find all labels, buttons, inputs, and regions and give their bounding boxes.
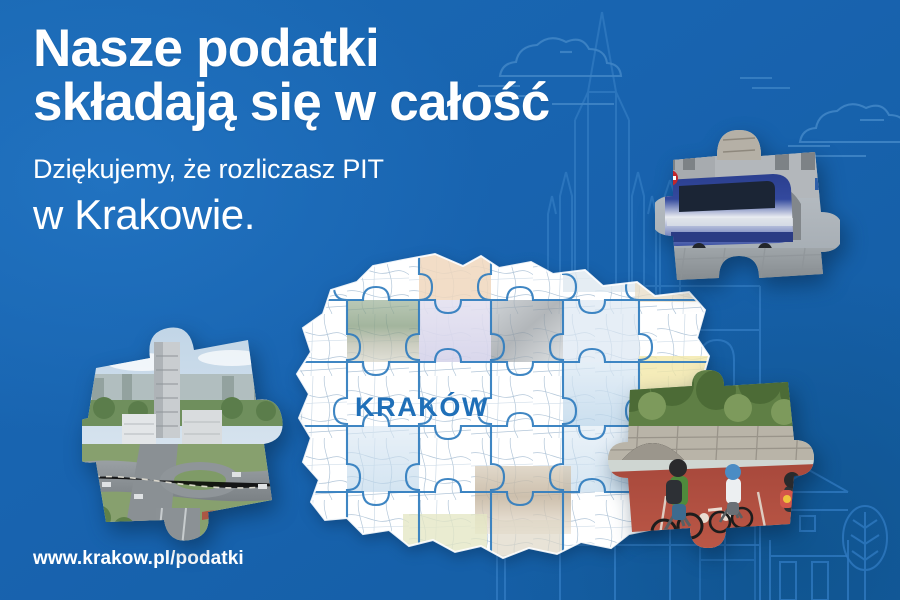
tree-outline — [843, 506, 887, 600]
map-city-label: KRAKÓW — [355, 392, 489, 423]
cloud-outline-top — [740, 78, 790, 88]
copy-block: Nasze podatki składają się w całość Dzię… — [33, 22, 683, 239]
page-title: Nasze podatki składają się w całość — [33, 22, 683, 130]
website-url[interactable]: www.krakow.pl/podatki — [33, 548, 244, 570]
subtitle: Dziękujemy, że rozliczasz PIT — [33, 154, 683, 185]
cyclists-piece — [608, 368, 818, 573]
city-line: w Krakowie. — [33, 191, 683, 239]
cityscape-piece — [82, 312, 287, 547]
tram-piece — [655, 108, 840, 308]
campaign-banner: KRAKÓW — [0, 0, 900, 600]
